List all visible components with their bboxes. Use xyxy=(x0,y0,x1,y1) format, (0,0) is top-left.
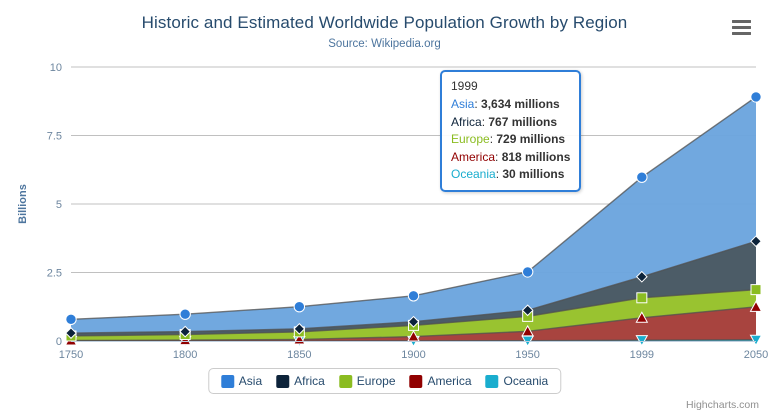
legend-swatch-icon xyxy=(486,375,499,388)
legend-item-label: Africa xyxy=(294,374,325,388)
tooltip-series-name: America xyxy=(451,150,495,164)
x-axis-tick-label: 1850 xyxy=(287,349,311,361)
legend-item-america[interactable]: America xyxy=(410,374,472,388)
tooltip-separator: : xyxy=(495,150,502,164)
credits-label: Highcharts.com xyxy=(686,399,759,411)
plot-area: 02.557.510Billions1750180018501900195019… xyxy=(0,0,769,416)
legend-swatch-icon xyxy=(221,375,234,388)
data-point-asia-1950[interactable] xyxy=(522,267,532,277)
data-point-asia-1750[interactable] xyxy=(66,314,76,324)
data-point-asia-2050[interactable] xyxy=(751,92,761,102)
legend: AsiaAfricaEuropeAmericaOceania xyxy=(208,368,561,394)
tooltip-rows: Asia: 3,634 millionsAfrica: 767 millions… xyxy=(451,96,570,183)
y-axis-tick-label: 2.5 xyxy=(47,268,62,280)
legend-item-label: Oceania xyxy=(504,374,549,388)
x-axis-tick-label: 1900 xyxy=(401,349,425,361)
tooltip-series-value: 767 millions xyxy=(488,115,557,129)
y-axis-tick-label: 5 xyxy=(56,199,62,211)
tooltip-series-value: 30 millions xyxy=(502,167,564,181)
legend-item-asia[interactable]: Asia xyxy=(221,374,262,388)
data-point-asia-1850[interactable] xyxy=(294,301,304,311)
tooltip: 1999 Asia: 3,634 millionsAfrica: 767 mil… xyxy=(440,70,581,192)
data-point-europe-1999[interactable] xyxy=(637,293,647,303)
tooltip-series-name: Oceania xyxy=(451,167,496,181)
x-axis-tick-label: 1999 xyxy=(630,349,654,361)
legend-item-africa[interactable]: Africa xyxy=(276,374,325,388)
tooltip-series-name: Africa xyxy=(451,115,482,129)
data-point-europe-2050[interactable] xyxy=(751,285,761,295)
legend-swatch-icon xyxy=(339,375,352,388)
x-axis-tick-label: 1750 xyxy=(59,349,83,361)
tooltip-series-name: Asia xyxy=(451,97,474,111)
legend-swatch-icon xyxy=(410,375,423,388)
tooltip-row: Africa: 767 millions xyxy=(451,114,570,131)
legend-item-label: Europe xyxy=(357,374,396,388)
y-axis-tick-label: 7.5 xyxy=(47,131,62,143)
tooltip-series-value: 729 millions xyxy=(496,132,565,146)
x-axis-tick-label: 2050 xyxy=(744,349,768,361)
tooltip-header: 1999 xyxy=(451,78,570,95)
tooltip-row: America: 818 millions xyxy=(451,149,570,166)
legend-item-label: America xyxy=(428,374,472,388)
tooltip-series-value: 3,634 millions xyxy=(481,97,560,111)
data-point-asia-1900[interactable] xyxy=(408,291,418,301)
data-point-asia-1999[interactable] xyxy=(637,172,647,182)
legend-swatch-icon xyxy=(276,375,289,388)
tooltip-row: Europe: 729 millions xyxy=(451,131,570,148)
legend-item-oceania[interactable]: Oceania xyxy=(486,374,549,388)
y-axis-tick-label: 10 xyxy=(50,62,62,74)
tooltip-separator: : xyxy=(474,97,481,111)
legend-item-europe[interactable]: Europe xyxy=(339,374,396,388)
tooltip-series-value: 818 millions xyxy=(502,150,571,164)
y-axis-tick-label: 0 xyxy=(56,336,62,348)
legend-item-label: Asia xyxy=(239,374,262,388)
y-axis-title: Billions xyxy=(17,184,29,224)
x-axis-tick-label: 1950 xyxy=(515,349,539,361)
tooltip-row: Oceania: 30 millions xyxy=(451,166,570,183)
data-point-asia-1800[interactable] xyxy=(180,309,190,319)
tooltip-row: Asia: 3,634 millions xyxy=(451,96,570,113)
tooltip-series-name: Europe xyxy=(451,132,490,146)
x-axis-tick-label: 1800 xyxy=(173,349,197,361)
highcharts-chart: Historic and Estimated Worldwide Populat… xyxy=(0,0,769,416)
